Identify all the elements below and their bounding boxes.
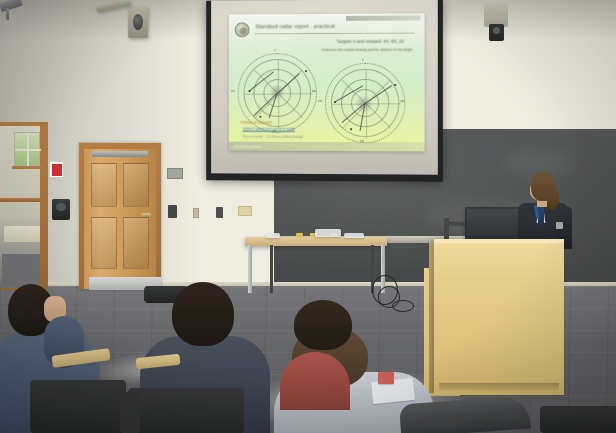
wall-speaker-left-cone bbox=[133, 14, 143, 30]
radar-left-label-w: 270 bbox=[231, 90, 235, 93]
projection-screen: Standard radar report - practical Target… bbox=[206, 0, 443, 182]
slide-footer-label: Introducing software bbox=[234, 145, 262, 149]
slide-page-number: 12 bbox=[415, 145, 419, 149]
classroom-door[interactable] bbox=[79, 143, 161, 289]
side-room-bench bbox=[4, 226, 40, 242]
radar-left-label-n: 0 bbox=[274, 49, 275, 52]
wall-jack[interactable] bbox=[216, 207, 223, 218]
wall-outlet-plate[interactable] bbox=[168, 205, 177, 218]
equipment-table bbox=[245, 237, 387, 246]
institution-logo-icon bbox=[235, 22, 250, 37]
side-room-window-sill bbox=[12, 166, 42, 169]
radar-right-label-n: 0 bbox=[362, 59, 363, 62]
audience-far-right-head bbox=[294, 300, 352, 350]
side-room-interior bbox=[0, 126, 40, 288]
chair-center-arm bbox=[120, 392, 140, 433]
radar-right-label-e: 090 bbox=[400, 100, 404, 103]
slide-note-line: Record results - COLREGs plotting triang… bbox=[243, 135, 303, 139]
wall-camera-lens bbox=[493, 27, 500, 34]
slide-body-text: Determine the relative bearing and the d… bbox=[314, 48, 421, 53]
side-room-doorway bbox=[0, 122, 48, 290]
door-handle[interactable] bbox=[141, 213, 151, 217]
door-closer-icon bbox=[92, 151, 148, 157]
radar-right-label-w: 270 bbox=[318, 100, 322, 103]
audience-center-head bbox=[172, 282, 234, 346]
slide-title-rule bbox=[254, 33, 414, 35]
floor-cable-loop-3 bbox=[392, 300, 414, 312]
door-panel-lower-left bbox=[91, 217, 117, 269]
lecture-hall-photo: Standard radar report - practical Target… bbox=[0, 0, 616, 433]
chair-center[interactable] bbox=[128, 388, 244, 433]
handout-paper-red bbox=[378, 372, 394, 384]
door-panel-upper-left bbox=[91, 163, 117, 207]
lectern bbox=[434, 239, 564, 395]
table-equipment-left bbox=[266, 233, 280, 238]
table-equipment-right bbox=[344, 233, 364, 238]
light-switch[interactable] bbox=[193, 208, 199, 218]
fire-alarm-icon bbox=[52, 164, 62, 176]
fire-alarm-sign bbox=[49, 161, 64, 178]
side-room-wood-rail bbox=[0, 198, 40, 202]
radar-plot-right: 0 090 180 270 bbox=[324, 62, 408, 147]
presentation-slide: Standard radar report - practical Target… bbox=[229, 13, 425, 151]
slide-link-line: Vessel's speed and course in knots bbox=[243, 127, 295, 131]
slide-top-accent bbox=[346, 15, 421, 20]
slide-heading: Points of interest: bbox=[241, 120, 273, 125]
table-leg-left-brace bbox=[270, 245, 273, 293]
radar-left-label-e: 090 bbox=[312, 90, 316, 93]
wall-control-panel[interactable] bbox=[238, 206, 252, 216]
side-room-window bbox=[14, 132, 40, 166]
hand-sanitizer-dispenser[interactable] bbox=[52, 199, 70, 220]
table-equipment-center bbox=[315, 229, 341, 237]
ceiling-light-left-stem bbox=[6, 8, 9, 20]
lectern-shelf bbox=[439, 383, 559, 391]
presenter-badge bbox=[556, 222, 563, 229]
table-leg-left bbox=[248, 245, 252, 293]
wall-sign bbox=[167, 168, 183, 179]
door-panel-lower-right bbox=[123, 217, 149, 269]
chair-far-right[interactable] bbox=[540, 406, 616, 433]
slide-subtitle: Targets 3 and onward: 40, 60, 15 bbox=[320, 39, 421, 44]
projection-screen-surface: Standard radar report - practical Target… bbox=[211, 0, 438, 175]
lectern-top-edge bbox=[434, 239, 564, 243]
slide-title: Standard radar report - practical bbox=[255, 24, 375, 31]
chair-left[interactable] bbox=[30, 380, 126, 433]
door-leaf[interactable] bbox=[84, 149, 156, 289]
door-panel-upper-right bbox=[123, 163, 149, 207]
side-room-floor bbox=[2, 254, 40, 286]
